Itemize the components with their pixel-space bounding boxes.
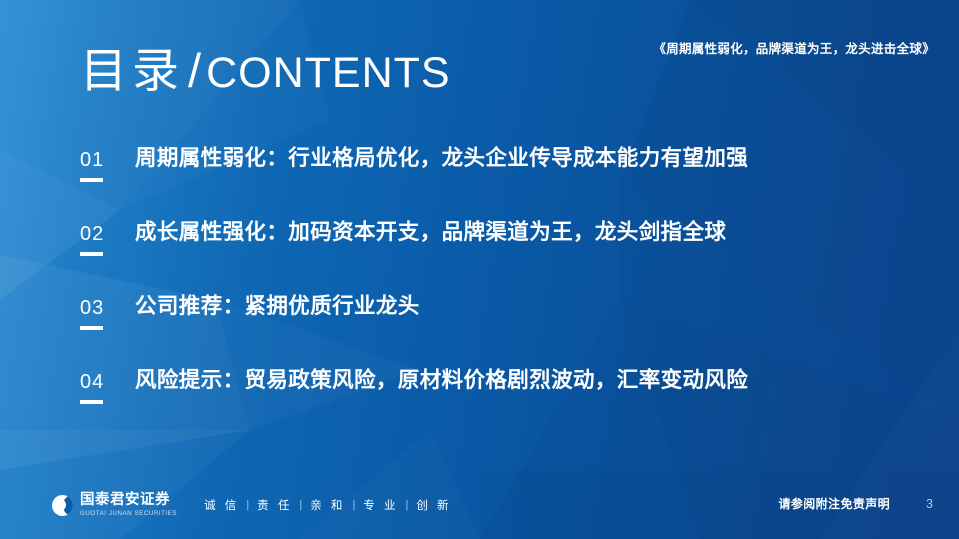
footer-slogan-word-2: 责 任 xyxy=(250,497,299,513)
footer-page-number: 3 xyxy=(926,497,933,511)
footer-branding: 国泰君安证券 GUOTAI JUNAN SECURITIES 诚 信 | 责 任… xyxy=(52,493,459,517)
footer-meta: 请参阅附注免责声明 3 xyxy=(778,495,933,512)
contents-number-wrap-03: 03 xyxy=(80,295,135,330)
contents-number-wrap-02: 02 xyxy=(80,221,135,256)
page-title-separator: / xyxy=(184,44,206,97)
contents-number-underline-02 xyxy=(80,252,103,256)
slide-footer: 国泰君安证券 GUOTAI JUNAN SECURITIES 诚 信 | 责 任… xyxy=(0,475,959,539)
contents-item-02[interactable]: 02 成长属性强化：加码资本开支，品牌渠道为王，龙头剑指全球 xyxy=(80,221,929,295)
contents-number-04: 04 xyxy=(80,372,135,392)
contents-number-wrap-01: 01 xyxy=(80,147,135,182)
guotai-junan-logo-icon xyxy=(52,495,73,516)
contents-item-01[interactable]: 01 周期属性弱化：行业格局优化，龙头企业传导成本能力有望加强 xyxy=(80,147,929,221)
contents-label-01: 周期属性弱化：行业格局优化，龙头企业传导成本能力有望加强 xyxy=(135,147,748,171)
contents-item-04[interactable]: 04 风险提示：贸易政策风险，原材料价格剧烈波动，汇率变动风险 xyxy=(80,369,929,443)
contents-number-underline-04 xyxy=(80,400,103,404)
contents-number-03: 03 xyxy=(80,298,135,318)
footer-company-name: 国泰君安证券 GUOTAI JUNAN SECURITIES xyxy=(80,493,177,517)
contents-item-03[interactable]: 03 公司推荐：紧拥优质行业龙头 xyxy=(80,295,929,369)
contents-number-02: 02 xyxy=(80,224,135,244)
contents-number-underline-03 xyxy=(80,326,103,330)
contents-number-underline-01 xyxy=(80,178,103,182)
contents-label-02: 成长属性强化：加码资本开支，品牌渠道为王，龙头剑指全球 xyxy=(135,221,726,245)
footer-slogan-word-5: 创 新 xyxy=(409,497,458,513)
page-title: 目录/CONTENTS xyxy=(80,44,451,98)
footer-company-name-en: GUOTAI JUNAN SECURITIES xyxy=(80,510,177,517)
footer-slogan-word-3: 亲 和 xyxy=(303,497,352,513)
contents-list: 01 周期属性弱化：行业格局优化，龙头企业传导成本能力有望加强 02 成长属性强… xyxy=(80,147,929,443)
footer-disclaimer: 请参阅附注免责声明 xyxy=(778,495,890,512)
page-title-cn: 目录 xyxy=(80,44,184,97)
contents-number-wrap-04: 04 xyxy=(80,369,135,404)
contents-label-03: 公司推荐：紧拥优质行业龙头 xyxy=(135,295,420,319)
footer-slogan-word-4: 专 业 xyxy=(356,497,405,513)
page-title-en: CONTENTS xyxy=(206,49,451,97)
footer-company-name-cn: 国泰君安证券 xyxy=(80,493,177,508)
header-report-title: 《周期属性弱化，品牌渠道为王，龙头进击全球》 xyxy=(653,38,935,57)
presentation-slide: 《周期属性弱化，品牌渠道为王，龙头进击全球》 目录/CONTENTS 01 周期… xyxy=(0,0,959,539)
contents-number-01: 01 xyxy=(80,150,135,170)
footer-slogan-word-1: 诚 信 xyxy=(197,497,246,513)
contents-label-04: 风险提示：贸易政策风险，原材料价格剧烈波动，汇率变动风险 xyxy=(135,369,748,393)
footer-slogan: 诚 信 | 责 任 | 亲 和 | 专 业 | 创 新 xyxy=(197,497,458,513)
